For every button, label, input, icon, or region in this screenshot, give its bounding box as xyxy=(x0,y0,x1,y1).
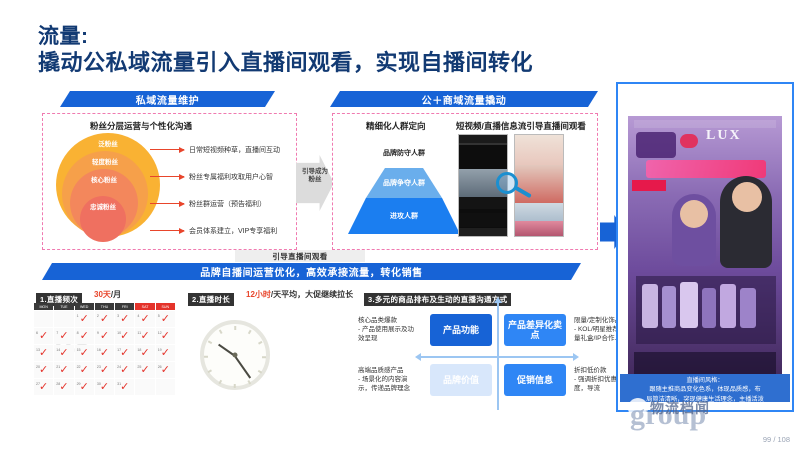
calendar-day-number: 29 xyxy=(77,382,81,386)
calendar-day-number: 9 xyxy=(97,331,99,335)
quadrant-box-promotion[interactable]: 促销信息 xyxy=(504,364,566,396)
check-icon: ✓ xyxy=(100,331,109,342)
calendar-header-row: MONTUEWEDTHUFRISATSUN xyxy=(34,303,176,310)
check-icon: ✓ xyxy=(100,314,109,325)
calendar-cell[interactable]: 29✓ xyxy=(75,379,94,395)
clock-icon xyxy=(200,320,270,390)
clock-tick xyxy=(219,330,222,334)
check-icon: ✓ xyxy=(161,314,170,325)
check-icon: ✓ xyxy=(80,331,89,342)
fan-annotation-text: 粉丝群运营（预告福利） xyxy=(189,199,266,209)
calendar-cell[interactable]: 12✓ xyxy=(156,328,175,344)
calendar-day-number: 5 xyxy=(158,314,160,318)
check-icon: ✓ xyxy=(39,348,48,359)
become-fan-label-line1: 引导成为 xyxy=(298,168,332,176)
private-panel-heading: 粉丝分层运营与个性化沟通 xyxy=(90,120,192,132)
calendar-day-number: 15 xyxy=(77,348,81,352)
watermark-badge-icon xyxy=(628,398,648,418)
calendar-cell[interactable] xyxy=(34,311,53,327)
calendar-cell[interactable] xyxy=(54,311,73,327)
section-header-private-traffic: 私域流量维护 xyxy=(60,91,275,107)
guide-watch-label: 引导直播间观看 xyxy=(235,250,365,262)
check-icon: ✓ xyxy=(140,365,149,376)
calendar-day-number: 13 xyxy=(36,348,40,352)
check-icon: ✓ xyxy=(140,331,149,342)
fan-circle-4: 忠诚粉丝 xyxy=(80,196,126,242)
magnifier-icon xyxy=(496,172,518,194)
calendar-day-number: 31 xyxy=(117,382,121,386)
clock-minute-hand xyxy=(234,355,251,378)
clock-tick xyxy=(234,384,236,388)
clock-tick xyxy=(219,380,222,384)
clock-tick xyxy=(204,356,208,358)
calendar-row: 27✓28✓29✓30✓31✓ xyxy=(34,379,176,395)
calendar-cell[interactable]: 21✓ xyxy=(54,362,73,378)
pyramid-tier-3: 进攻人群 xyxy=(348,198,460,234)
pyramid-tier-1: 品牌防守人群 xyxy=(348,138,460,168)
calendar-weekday-mon: MON xyxy=(34,303,53,310)
bottom-item-2-note: 12小时/天平均，大促继续拉长 xyxy=(246,289,353,300)
fan-annotation-row: 会员体系建立，VIP专享福利 xyxy=(150,218,292,243)
bottom-item-1-rest: /月 xyxy=(111,290,121,299)
public-panel-heading-left: 精细化人群定向 xyxy=(366,120,426,132)
calendar-day-number: 24 xyxy=(117,365,121,369)
calendar-cell[interactable]: 9✓ xyxy=(95,328,114,344)
check-icon: ✓ xyxy=(120,331,129,342)
clock-tick xyxy=(262,356,266,358)
section-header-bottom: 品牌自播间运营优化，高效承接流量，转化销售 xyxy=(42,263,581,280)
calendar-weekday-thu: THU xyxy=(95,303,114,310)
page-title: 流量: 撬动公私域流量引入直播间观看，实现自播间转化 xyxy=(38,26,533,75)
clock-tick xyxy=(234,326,236,330)
pyramid-tier-3-label: 进攻人群 xyxy=(390,211,418,221)
calendar-cell[interactable]: 15✓ xyxy=(75,345,94,361)
quadrant-box-differentiation[interactable]: 产品差异化卖点 xyxy=(504,314,566,346)
live-room-caption: 直播间风格： 跟随主推商品变化色系，体现品质感，布 局简洁清晰，突现健康生活理念… xyxy=(620,374,790,402)
bottom-item-1-note: 30天/月 xyxy=(94,289,121,300)
calendar-day-number: 11 xyxy=(137,331,141,335)
calendar-day-number: 7 xyxy=(56,331,58,335)
check-icon: ✓ xyxy=(39,331,48,342)
bottom-item-2-rest: /天平均，大促继续拉长 xyxy=(271,290,353,299)
pyramid-tier-2: 品牌争夺人群 xyxy=(348,168,460,198)
clock-tick xyxy=(258,341,262,344)
check-icon: ✓ xyxy=(59,331,68,342)
check-icon: ✓ xyxy=(80,314,89,325)
calendar-cell[interactable]: 16✓ xyxy=(95,345,114,361)
check-icon: ✓ xyxy=(80,382,89,393)
bottom-item-1-value: 30天 xyxy=(94,290,111,299)
calendar-cell[interactable]: 27✓ xyxy=(34,379,53,395)
clock-hour-hand xyxy=(218,344,236,357)
calendar-weekday-sat: SAT xyxy=(135,303,154,310)
calendar-cell[interactable]: 30✓ xyxy=(95,379,114,395)
calendar-cell[interactable]: 19✓ xyxy=(156,345,175,361)
check-icon: ✓ xyxy=(161,331,170,342)
calendar-cell[interactable]: 24✓ xyxy=(115,362,134,378)
quadrant-box-product-function[interactable]: 产品功能 xyxy=(430,314,492,346)
calendar-day-number: 19 xyxy=(158,348,162,352)
phone-screenshot-livestream xyxy=(514,134,564,237)
check-icon: ✓ xyxy=(100,365,109,376)
check-icon: ✓ xyxy=(120,314,129,325)
calendar-day-number: 21 xyxy=(56,365,60,369)
calendar-weekday-sun: SUN xyxy=(156,303,175,310)
calendar-day-number: 30 xyxy=(97,382,101,386)
calendar-day-number: 1 xyxy=(77,314,79,318)
become-fan-label-line2: 粉丝 xyxy=(298,176,332,184)
calendar-day-number: 8 xyxy=(77,331,79,335)
check-icon: ✓ xyxy=(39,382,48,393)
calendar-day-number: 17 xyxy=(117,348,121,352)
live-caption-line2: 跟随主推商品变化色系，体现品质感，布 xyxy=(624,385,786,394)
fan-circle-4-label: 忠诚粉丝 xyxy=(90,201,116,211)
calendar-cell[interactable]: 23✓ xyxy=(95,362,114,378)
check-icon: ✓ xyxy=(140,314,149,325)
fan-annotation-list: 日常短视频种草，直播间互动 粉丝专属福利攻取用户心智 粉丝群运营（预告福利） 会… xyxy=(150,137,292,245)
fan-circle-2-label: 轻度粉丝 xyxy=(92,156,118,166)
check-icon: ✓ xyxy=(100,348,109,359)
calendar-body: 1✓2✓3✓4✓5✓6✓7✓8✓9✓10✓11✓12✓13✓14✓15✓16✓1… xyxy=(34,311,176,395)
page-number: 99 / 108 xyxy=(763,435,790,444)
calendar-cell[interactable]: 8✓ xyxy=(75,328,94,344)
calendar-weekday-fri: FRI xyxy=(115,303,134,310)
check-icon: ✓ xyxy=(120,365,129,376)
calendar-day-number: 22 xyxy=(77,365,81,369)
fan-annotation-row: 粉丝群运营（预告福利） xyxy=(150,191,292,216)
check-icon: ✓ xyxy=(120,348,129,359)
quadrant-box-brand-value[interactable]: 品牌价值 xyxy=(430,364,492,396)
check-icon: ✓ xyxy=(59,365,68,376)
check-icon: ✓ xyxy=(80,365,89,376)
bottom-item-3: 3.多元的商品排布及生动的直播沟通方式 xyxy=(364,289,511,307)
quadrant-note-bl-line2: - 场景化的内容演示，传递品牌理念 xyxy=(358,375,420,393)
check-icon: ✓ xyxy=(39,365,48,376)
calendar-cell[interactable]: 20✓ xyxy=(34,362,53,378)
quadrant-note-tl-line1: 核心品类爆款 xyxy=(358,316,420,325)
quadrant-note-top-left: 核心品类爆款 - 产品使用展示及功效呈现 xyxy=(358,316,420,343)
calendar-day-number: 23 xyxy=(97,365,101,369)
broadcast-frequency-calendar: MONTUEWEDTHUFRISATSUN 1✓2✓3✓4✓5✓6✓7✓8✓9✓… xyxy=(34,303,176,395)
clock-tick xyxy=(258,370,262,373)
clock-tick xyxy=(248,330,251,334)
bottom-item-2-tag: 2.直播时长 xyxy=(188,293,234,306)
calendar-cell[interactable]: 17✓ xyxy=(115,345,134,361)
content-quadrant-matrix: 产品功能 产品差异化卖点 品牌价值 促销信息 xyxy=(426,306,568,406)
fan-annotation-row: 粉丝专属福利攻取用户心智 xyxy=(150,164,292,189)
calendar-day-number: 12 xyxy=(158,331,162,335)
calendar-cell[interactable]: 10✓ xyxy=(115,328,134,344)
calendar-row: 20✓21✓22✓23✓24✓25✓26✓ xyxy=(34,362,176,378)
calendar-weekday-wed: WED xyxy=(75,303,94,310)
arrow-icon xyxy=(150,149,184,150)
quadrant-horizontal-axis xyxy=(420,356,574,358)
fan-annotation-text: 会员体系建立，VIP专享福利 xyxy=(189,226,277,236)
calendar-cell[interactable]: 26✓ xyxy=(156,362,175,378)
arrow-icon xyxy=(150,230,184,231)
check-icon: ✓ xyxy=(140,348,149,359)
calendar-cell[interactable]: 5✓ xyxy=(156,311,175,327)
calendar-day-number: 14 xyxy=(56,348,60,352)
calendar-day-number: 2 xyxy=(97,314,99,318)
calendar-cell[interactable]: 22✓ xyxy=(75,362,94,378)
calendar-cell[interactable]: 4✓ xyxy=(135,311,154,327)
calendar-day-number: 27 xyxy=(36,382,40,386)
calendar-day-number: 3 xyxy=(117,314,119,318)
calendar-day-number: 6 xyxy=(36,331,38,335)
live-caption-line1: 直播间风格： xyxy=(624,376,786,385)
calendar-cell[interactable]: 13✓ xyxy=(34,345,53,361)
check-icon: ✓ xyxy=(59,348,68,359)
calendar-cell[interactable] xyxy=(135,379,154,395)
check-icon: ✓ xyxy=(100,382,109,393)
calendar-day-number: 25 xyxy=(137,365,141,369)
bottom-item-2: 2.直播时长 xyxy=(188,289,234,307)
bottom-item-3-tag: 3.多元的商品排布及生动的直播沟通方式 xyxy=(364,293,511,306)
arrow-icon xyxy=(150,203,184,204)
check-icon: ✓ xyxy=(120,382,129,393)
calendar-day-number: 16 xyxy=(97,348,101,352)
public-panel-heading-right: 短视频/直播信息流引导直播间观看 xyxy=(456,120,586,132)
calendar-day-number: 20 xyxy=(36,365,40,369)
check-icon: ✓ xyxy=(80,348,89,359)
become-fan-label: 引导成为 粉丝 xyxy=(298,168,332,184)
quadrant-note-bottom-left: 高端品质感产品 - 场景化的内容演示，传递品牌理念 xyxy=(358,366,420,393)
calendar-cell[interactable]: 18✓ xyxy=(135,345,154,361)
calendar-day-number: 18 xyxy=(137,348,141,352)
pyramid-tier-1-label: 品牌防守人群 xyxy=(383,148,425,158)
calendar-day-number: 10 xyxy=(117,331,121,335)
check-icon: ✓ xyxy=(161,348,170,359)
calendar-cell[interactable] xyxy=(156,379,175,395)
slide-canvas: 流量: 撬动公私域流量引入直播间观看，实现自播间转化 私域流量维护 公＋商域流量… xyxy=(0,0,800,450)
calendar-row: 6✓7✓8✓9✓10✓11✓12✓ xyxy=(34,328,176,344)
check-icon: ✓ xyxy=(59,382,68,393)
check-icon: ✓ xyxy=(161,365,170,376)
calendar-cell[interactable]: 25✓ xyxy=(135,362,154,378)
fan-annotation-row: 日常短视频种草，直播间互动 xyxy=(150,137,292,162)
fan-circle-3-label: 核心粉丝 xyxy=(91,174,117,184)
fan-annotation-text: 粉丝专属福利攻取用户心智 xyxy=(189,172,273,182)
calendar-row: 13✓14✓15✓16✓17✓18✓19✓ xyxy=(34,345,176,361)
calendar-cell[interactable]: 1✓ xyxy=(75,311,94,327)
clock-tick xyxy=(208,370,212,373)
fan-annotation-text: 日常短视频种草，直播间互动 xyxy=(189,145,280,155)
calendar-cell[interactable]: 28✓ xyxy=(54,379,73,395)
calendar-cell[interactable]: 3✓ xyxy=(115,311,134,327)
audience-pyramid: 品牌防守人群 品牌争夺人群 进攻人群 xyxy=(348,138,460,234)
title-line-2: 撬动公私域流量引入直播间观看，实现自播间转化 xyxy=(38,50,533,75)
calendar-day-number: 28 xyxy=(56,382,60,386)
clock-tick xyxy=(248,380,251,384)
live-room-screenshot: LUX xyxy=(628,116,782,398)
arrow-icon xyxy=(150,176,184,177)
quadrant-note-tl-line2: - 产品使用展示及功效呈现 xyxy=(358,325,420,343)
calendar-cell[interactable]: 14✓ xyxy=(54,345,73,361)
fan-circle-1-label: 泛粉丝 xyxy=(98,138,118,148)
title-line-1: 流量: xyxy=(38,26,533,48)
calendar-cell[interactable]: 11✓ xyxy=(135,328,154,344)
section-header-public-traffic: 公＋商域流量撬动 xyxy=(330,91,598,107)
clock-tick xyxy=(208,341,212,344)
pyramid-tier-2-label: 品牌争夺人群 xyxy=(383,178,425,188)
calendar-day-number: 4 xyxy=(137,314,139,318)
quadrant-note-bl-line1: 高端品质感产品 xyxy=(358,366,420,375)
bottom-item-2-value: 12小时 xyxy=(246,290,271,299)
calendar-cell[interactable]: 2✓ xyxy=(95,311,114,327)
live-caption-line3: 局简洁清晰，突现健康生活理念，主播活泼 xyxy=(624,395,786,404)
calendar-day-number: 26 xyxy=(158,365,162,369)
calendar-row: 1✓2✓3✓4✓5✓ xyxy=(34,311,176,327)
calendar-cell[interactable]: 7✓ xyxy=(54,328,73,344)
calendar-weekday-tue: TUE xyxy=(54,303,73,310)
calendar-cell[interactable]: 31✓ xyxy=(115,379,134,395)
calendar-cell[interactable]: 6✓ xyxy=(34,328,53,344)
